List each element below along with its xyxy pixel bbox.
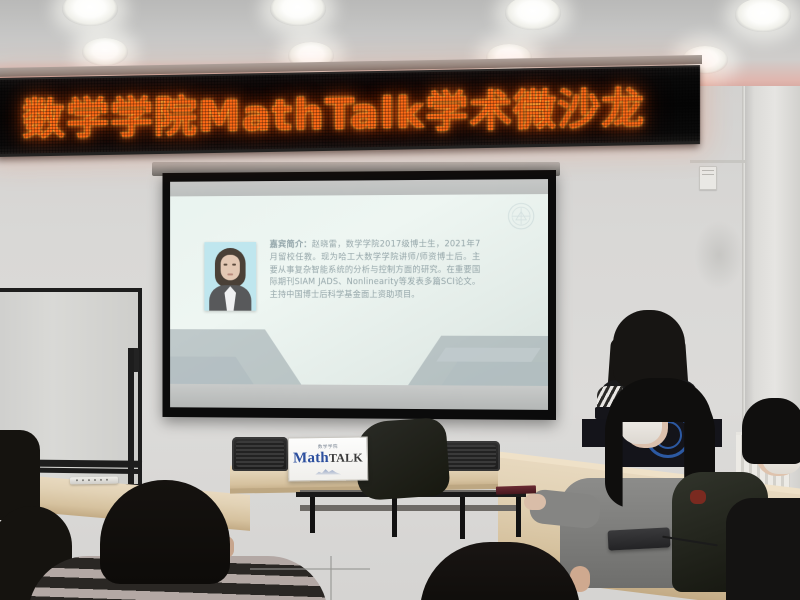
- placard-logo-icon: [315, 467, 341, 474]
- slide-bottom-band: [170, 384, 548, 410]
- led-banner-text: 数学学院MathTalk学术微沙龙: [22, 74, 645, 147]
- chair-leg: [516, 497, 521, 537]
- chair-leg: [310, 497, 315, 533]
- floor-grout-line: [250, 568, 370, 570]
- speaker-portrait-photo: [204, 242, 256, 311]
- projector-remote[interactable]: [70, 477, 118, 485]
- notebook-on-table: [496, 485, 536, 494]
- mathtalk-table-placard: 数学学院 MathTALK: [288, 436, 369, 481]
- led-scrolling-banner: 数学学院MathTalk学术微沙龙: [0, 65, 700, 157]
- wall-switch-plate[interactable]: [699, 166, 717, 190]
- speaker-hair-top: [613, 310, 685, 388]
- right-attendee-body: [726, 498, 800, 600]
- whiteboard-leg: [128, 348, 134, 488]
- slide-lead-label: 嘉宾简介：: [270, 239, 312, 249]
- coat-red-patch: [690, 490, 706, 504]
- floor-grout-line: [330, 556, 332, 600]
- placard-brand: MathTALK: [293, 450, 363, 466]
- slide-body-text: 嘉宾简介：赵晓雷，数学学院2017级博士生，2021年7月留校任教。现为哈工大数…: [270, 237, 481, 301]
- table-underframe: [300, 505, 520, 511]
- wall-smudge: [694, 220, 744, 290]
- office-chair[interactable]: [232, 437, 288, 471]
- projection-screen: 嘉宾简介：赵晓雷，数学学院2017级博士生，2021年7月留校任教。现为哈工大数…: [162, 170, 556, 420]
- slide-surface: 嘉宾简介：赵晓雷，数学学院2017级博士生，2021年7月留校任教。现为哈工大数…: [170, 179, 548, 410]
- chair-leg: [460, 497, 465, 539]
- university-emblem-watermark-icon: [506, 201, 536, 231]
- slide-decoration-shape: [440, 362, 548, 388]
- slide-top-band: [170, 179, 548, 196]
- seated-attendee-hand: [524, 494, 546, 510]
- seminar-room-photo: 嘉宾简介：赵晓雷，数学学院2017级博士生，2021年7月留校任教。现为哈工大数…: [0, 0, 800, 600]
- smartphone-on-table[interactable]: [608, 527, 671, 550]
- placard-brand-suffix: TALK: [329, 450, 363, 464]
- chair-leg: [392, 497, 397, 537]
- right-attendee-hair: [742, 398, 800, 464]
- ceiling-downlight: [82, 38, 128, 66]
- placard-brand-main: Math: [293, 449, 329, 465]
- slide-decoration-shape: [436, 348, 540, 362]
- wall-seam-horizontal: [690, 160, 746, 163]
